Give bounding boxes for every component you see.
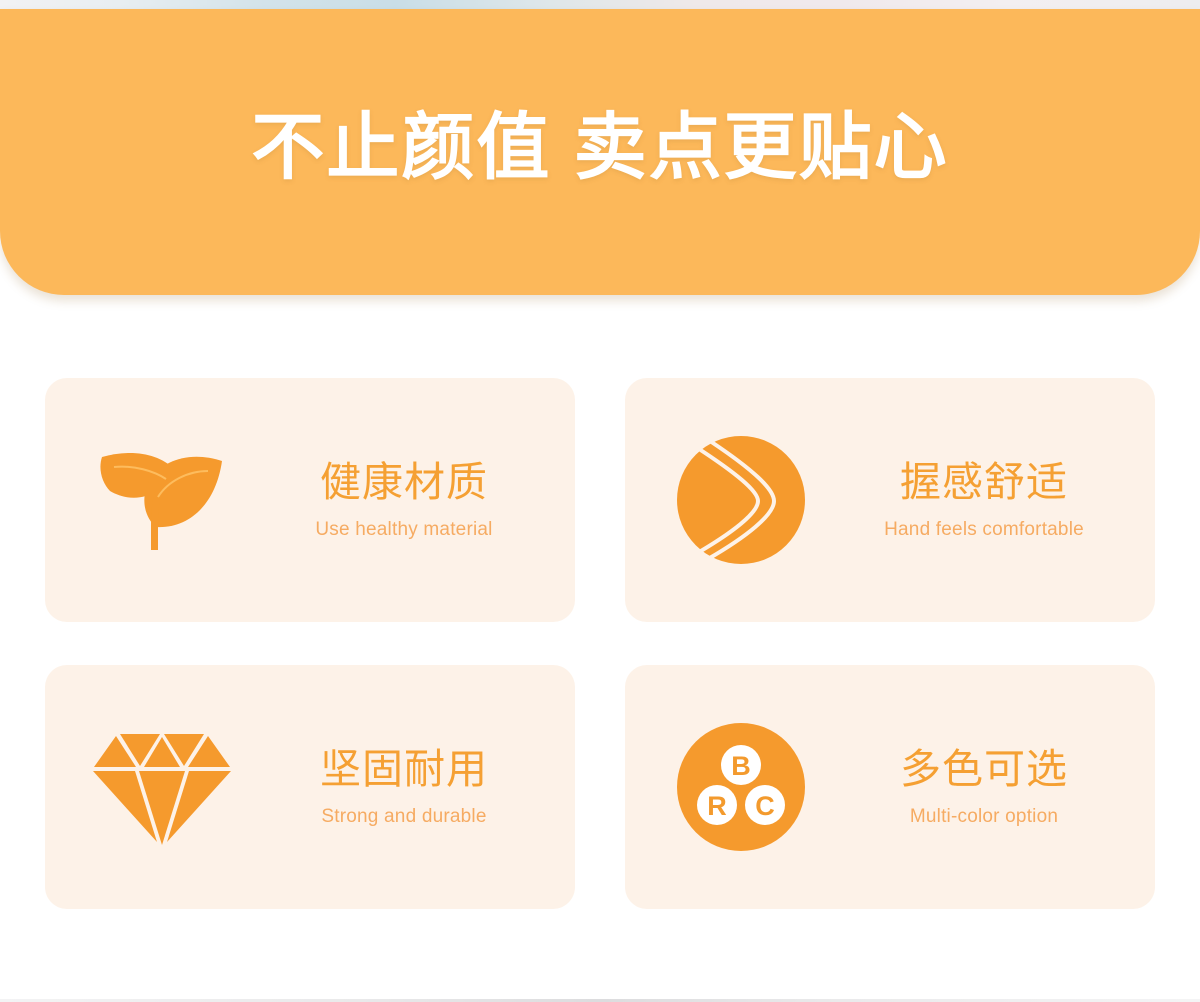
page-title: 不止颜值 卖点更贴心 bbox=[251, 111, 948, 184]
feature-card-text: 多色可选 Multi-color option bbox=[831, 746, 1155, 828]
feature-card-subtitle: Use healthy material bbox=[315, 519, 492, 541]
feature-card-title: 健康材质 bbox=[320, 459, 488, 506]
feature-card-subtitle: Multi-color option bbox=[910, 806, 1058, 828]
feature-card-comfortable-grip[interactable]: 握感舒适 Hand feels comfortable bbox=[625, 378, 1155, 622]
feature-card-text: 握感舒适 Hand feels comfortable bbox=[831, 459, 1155, 541]
feature-card-multi-color[interactable]: B R C 多色可选 Multi-color option bbox=[625, 665, 1155, 909]
leaf-sprout-icon bbox=[71, 425, 251, 575]
feature-card-title: 坚固耐用 bbox=[320, 746, 488, 793]
feature-card-healthy-material[interactable]: 健康材质 Use healthy material bbox=[45, 378, 575, 622]
feature-card-text: 健康材质 Use healthy material bbox=[251, 459, 575, 541]
color-letter-b: B bbox=[731, 751, 751, 781]
ball-grip-icon bbox=[651, 425, 831, 575]
feature-card-subtitle: Hand feels comfortable bbox=[884, 519, 1084, 541]
feature-card-title: 多色可选 bbox=[900, 746, 1068, 793]
feature-card-subtitle: Strong and durable bbox=[321, 806, 486, 828]
feature-card-grid: 健康材质 Use healthy material 握感舒适 Hand feel… bbox=[45, 378, 1155, 909]
feature-card-text: 坚固耐用 Strong and durable bbox=[251, 746, 575, 828]
color-letter-r: R bbox=[707, 791, 727, 821]
feature-card-title: 握感舒适 bbox=[900, 459, 1068, 506]
product-feature-page: 不止颜值 卖点更贴心 健康材质 bbox=[0, 0, 1200, 1002]
diamond-icon bbox=[71, 712, 251, 862]
color-letter-c: C bbox=[755, 791, 775, 821]
top-photo-strip bbox=[0, 0, 1200, 9]
color-options-icon: B R C bbox=[651, 712, 831, 862]
hero-banner: 不止颜值 卖点更贴心 bbox=[0, 9, 1200, 295]
feature-card-strong-durable[interactable]: 坚固耐用 Strong and durable bbox=[45, 665, 575, 909]
